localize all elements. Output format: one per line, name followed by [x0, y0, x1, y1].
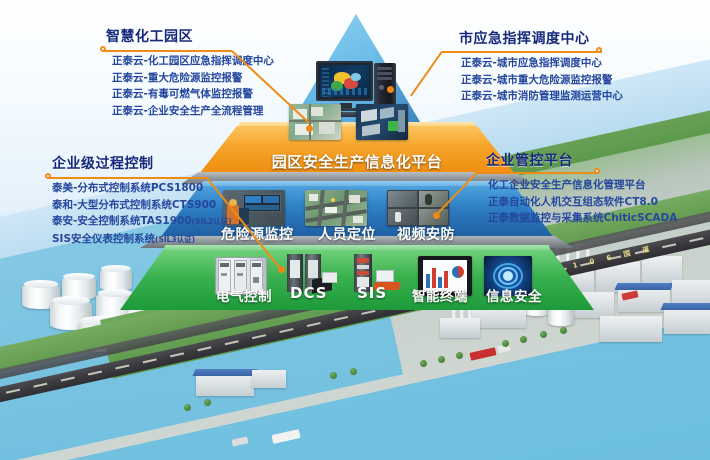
- layer4-item-label-4: 信息安全: [486, 285, 542, 305]
- infographic-stage: 1 0 6 国 道: [0, 0, 710, 460]
- callout4-anchor-dot: [45, 173, 51, 179]
- callout3-anchor-dot: [594, 168, 600, 174]
- callout-line: 正泰云-企业安全生产全流程管理: [112, 103, 274, 120]
- callout-line: 泰和-大型分布式控制系统CTS900: [52, 197, 232, 214]
- monitor-icon: [316, 61, 373, 101]
- callout-line: 泰安-安全控制系统TAS1900(SIL2认证): [52, 213, 232, 231]
- callout-line: 正泰云-有毒可燃气体监控报警: [112, 86, 274, 103]
- callout-line: 正泰数据监控与采集系统ChiticSCADA: [488, 210, 677, 227]
- callout-smart-chemical-park: 智慧化工园区 正泰云-化工园区应急指挥调度中心 正泰云-重大危险源监控报警 正泰…: [106, 26, 274, 119]
- callout-line: 正泰云-城市消防管理监测运营中心: [461, 88, 623, 105]
- monitor-screen: [320, 65, 369, 97]
- video-security-thumb[interactable]: [387, 190, 449, 226]
- callout4-end-dot: [278, 266, 285, 273]
- layer3-item-label-2: 视频安防: [397, 224, 455, 244]
- callout-line: 化工企业安全生产信息化管理平台: [488, 177, 677, 194]
- callout-line: SIS安全仪表控制系统(SIL3认证): [52, 231, 232, 249]
- control-room-3d-thumb[interactable]: [356, 104, 408, 140]
- callout-line: 正泰云-城市应急指挥调度中心: [461, 55, 623, 72]
- callout-line: 正泰云-重大危险源监控报警: [112, 70, 274, 87]
- callout-line: 正泰自动化人机交互组态软件CT8.0: [488, 194, 677, 211]
- callout3-end-dot: [433, 212, 440, 219]
- callout-title: 企业级过程控制: [52, 153, 232, 173]
- callout2-anchor-dot: [596, 47, 602, 53]
- callout-enterprise-management-platform: 企业管控平台 化工企业安全生产信息化管理平台 正泰自动化人机交互组态软件CT8.…: [486, 150, 677, 227]
- callout1-rule: [104, 50, 232, 52]
- callout-title: 企业管控平台: [486, 150, 677, 170]
- callout-title: 智慧化工园区: [106, 26, 274, 46]
- callout-city-emergency-command: 市应急指挥调度中心 正泰云-城市应急指挥调度中心 正泰云-城市重大危险源监控报警…: [459, 28, 623, 105]
- callout2-rule: [442, 51, 602, 53]
- layer3-item-label-1: 人员定位: [318, 224, 376, 244]
- layer4-item-label-2: SIS: [357, 284, 387, 302]
- layer4-item-label-0: 电气控制: [216, 285, 272, 305]
- callout1-end-dot: [306, 125, 313, 132]
- callout-line: 正泰云-城市重大危险源监控报警: [461, 72, 623, 89]
- personnel-positioning-thumb[interactable]: [305, 190, 367, 226]
- callout-line: 泰美-分布式控制系统PCS1800: [52, 180, 232, 197]
- layer4-item-label-3: 智能终端: [412, 285, 468, 305]
- callout4-rule: [49, 177, 207, 179]
- callout-title: 市应急指挥调度中心: [459, 28, 623, 48]
- layer4-item-label-1: DCS: [290, 284, 328, 302]
- callout1-anchor-dot: [100, 46, 106, 52]
- callout-enterprise-process-control: 企业级过程控制 泰美-分布式控制系统PCS1800 泰和-大型分布式控制系统CT…: [52, 153, 232, 248]
- callout2-end-dot: [387, 86, 394, 93]
- callout3-rule: [477, 172, 599, 174]
- layer2-label: 园区安全生产信息化平台: [199, 151, 515, 172]
